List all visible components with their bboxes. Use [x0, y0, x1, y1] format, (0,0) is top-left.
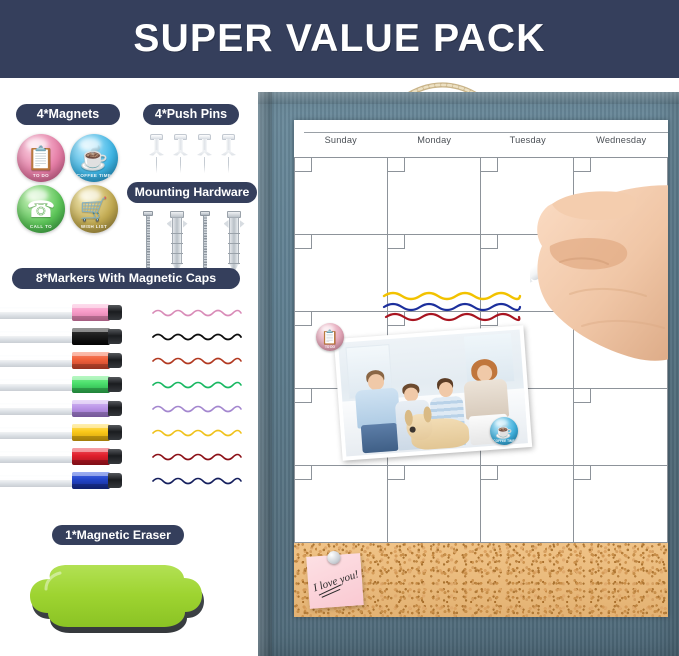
wish-list-magnet-caption: WISH LIST [70, 224, 118, 229]
ink-sample-yellow [152, 426, 242, 440]
push-pin-icon [198, 134, 211, 174]
marker-purple [0, 400, 122, 417]
sticky-note: I love you! [306, 553, 363, 609]
label-magnets: 4*Magnets [16, 104, 120, 125]
calendar-date-box [294, 465, 312, 480]
dry-erase-calendar-board: Sunday Monday Tuesday Wednesday [258, 92, 679, 656]
to-do-magnet-caption: TO DO [17, 173, 65, 178]
phone-icon: ☎ [27, 198, 56, 221]
call-magnet-caption: CALL TO [17, 224, 65, 229]
sticky-note-text: I love you! [311, 567, 359, 605]
wall-anchor-icon [227, 211, 241, 273]
clipboard-icon: 📋 [321, 330, 338, 344]
wave-yellow [384, 293, 520, 299]
ink-sample-blue [152, 474, 242, 488]
calendar-date-box [387, 465, 405, 480]
wish-list-magnet: 🛒 WISH LIST [70, 185, 118, 233]
calendar-date-box [387, 234, 405, 249]
photo-dog [405, 399, 470, 451]
board-surface: Sunday Monday Tuesday Wednesday [294, 120, 668, 617]
wave-red [386, 314, 519, 320]
push-pin-icon [222, 134, 235, 174]
calendar-top-rule [304, 132, 668, 133]
marker-blue [0, 472, 122, 489]
marker-yellow [0, 424, 122, 441]
drawn-waves [382, 290, 522, 329]
hand-with-marker [530, 142, 668, 368]
ink-sample-pink [152, 306, 242, 320]
svg-text:I love you!: I love you! [311, 568, 359, 594]
ink-sample-orange [152, 354, 242, 368]
coffee-cup-icon: ☕ [80, 147, 109, 170]
clipboard-icon: 📋 [27, 147, 56, 170]
calendar-date-box [294, 157, 312, 172]
call-magnet: ☎ CALL TO [17, 185, 65, 233]
calendar-date-box [294, 234, 312, 249]
push-pin-icon [174, 134, 187, 174]
coffee-magnet: ☕ COFFEE TIME [70, 134, 118, 182]
marker-pink [0, 304, 122, 321]
day-header-monday: Monday [388, 135, 482, 157]
marker-black [0, 328, 122, 345]
calendar-date-box [573, 388, 591, 403]
coffee-cup-icon: ☕ [495, 424, 512, 438]
calendar-date-box [294, 388, 312, 403]
calendar-date-box [480, 234, 498, 249]
ink-sample-green [152, 378, 242, 392]
screw-icon [143, 211, 153, 273]
to-do-magnet-small: 📋 TO DO [316, 323, 344, 351]
ink-sample-purple [152, 402, 242, 416]
to-do-magnet: 📋 TO DO [17, 134, 65, 182]
product-infographic: SUPER VALUE PACK 4*Magnets 4*Push Pins 📋… [0, 0, 679, 656]
calendar-date-box [480, 465, 498, 480]
marker-green [0, 376, 122, 393]
push-pin-icon [150, 134, 163, 174]
label-eraser: 1*Magnetic Eraser [52, 525, 184, 545]
marker-orange [0, 352, 122, 369]
coffee-magnet-small: ☕ COFFEE TIME [490, 417, 518, 445]
label-push-pins: 4*Push Pins [143, 104, 239, 125]
header-banner: SUPER VALUE PACK [0, 0, 679, 78]
ink-sample-red [152, 450, 242, 464]
wall-anchor-icon [170, 211, 184, 273]
label-mounting-hardware: Mounting Hardware [127, 182, 257, 203]
shopping-cart-icon: 🛒 [80, 198, 109, 221]
calendar-date-box [573, 465, 591, 480]
magnetic-eraser [26, 563, 206, 633]
marker-red [0, 448, 122, 465]
calendar-date-box [294, 311, 312, 326]
screw-icon [200, 211, 210, 273]
wave-blue [384, 304, 520, 310]
coffee-magnet-caption: COFFEE TIME [70, 173, 118, 178]
calendar-date-box [387, 157, 405, 172]
calendar-area: Sunday Monday Tuesday Wednesday [294, 120, 668, 543]
day-header-sunday: Sunday [294, 135, 388, 157]
ink-sample-black [152, 330, 242, 344]
calendar-date-box [480, 157, 498, 172]
push-pin-icon [327, 551, 341, 565]
page-title: SUPER VALUE PACK [133, 17, 545, 61]
accessories-panel: 4*Magnets 4*Push Pins 📋 TO DO ☕ COFFEE T… [0, 78, 258, 656]
label-markers: 8*Markers With Magnetic Caps [12, 268, 240, 289]
cork-board-strip: I love you! [294, 543, 668, 617]
